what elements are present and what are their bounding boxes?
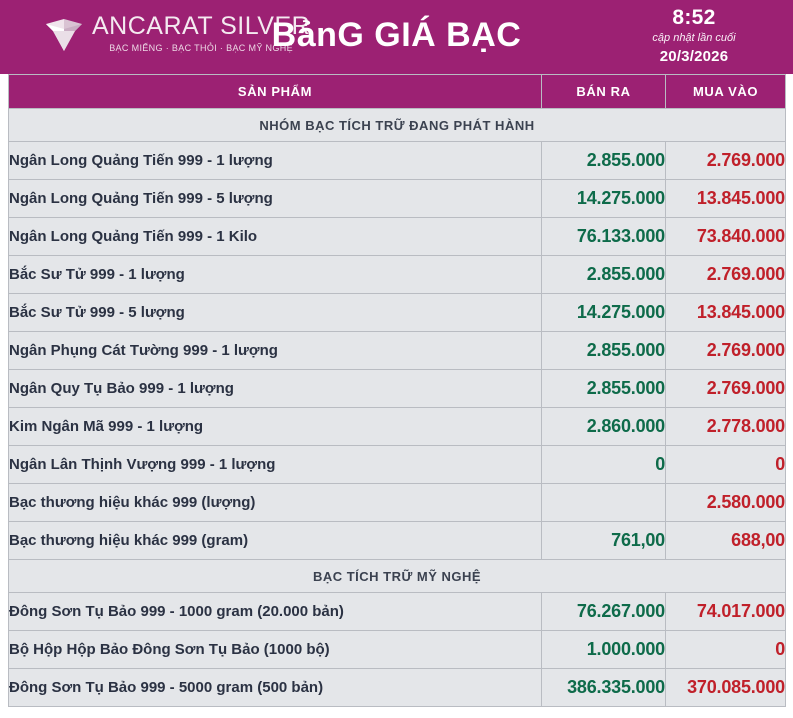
product-name: Đông Sơn Tụ Bảo 999 - 1000 gram (20.000 … (9, 593, 542, 631)
table-row: Ngân Long Quảng Tiến 999 - 5 lượng14.275… (9, 180, 786, 218)
buy-price: 0 (666, 446, 786, 484)
price-table-container: SẢN PHẨM BÁN RA MUA VÀO NHÓM BẠC TÍCH TR… (0, 74, 793, 707)
table-row: Bộ Hộp Hộp Bảo Đông Sơn Tụ Bảo (1000 bộ)… (9, 631, 786, 669)
sell-price: 14.275.000 (542, 180, 666, 218)
price-table-header: SẢN PHẨM BÁN RA MUA VÀO (9, 75, 786, 109)
buy-price: 2.580.000 (666, 484, 786, 522)
product-name: Ngân Lân Thịnh Vượng 999 - 1 lượng (9, 446, 542, 484)
table-row: Ngân Quy Tụ Bảo 999 - 1 lượng2.855.0002.… (9, 370, 786, 408)
price-table-body: NHÓM BẠC TÍCH TRỮ ĐANG PHÁT HÀNHNgân Lon… (9, 109, 786, 707)
page-header-bar: ANCARAT SILVER BẠC MIẾNG · BẠC THỎI · BẠ… (0, 0, 793, 74)
column-header-sell: BÁN RA (542, 75, 666, 109)
column-header-buy: MUA VÀO (666, 75, 786, 109)
sell-price: 761,00 (542, 522, 666, 560)
table-row: Ngân Long Quảng Tiến 999 - 1 Kilo76.133.… (9, 218, 786, 256)
buy-price: 688,00 (666, 522, 786, 560)
price-table: SẢN PHẨM BÁN RA MUA VÀO NHÓM BẠC TÍCH TR… (8, 74, 786, 707)
product-name: Ngân Long Quảng Tiến 999 - 1 lượng (9, 142, 542, 180)
buy-price: 2.778.000 (666, 408, 786, 446)
sell-price: 0 (542, 446, 666, 484)
product-name: Ngân Phụng Cát Tường 999 - 1 lượng (9, 332, 542, 370)
buy-price: 370.085.000 (666, 669, 786, 707)
sell-price: 14.275.000 (542, 294, 666, 332)
table-row: Đông Sơn Tụ Bảo 999 - 5000 gram (500 bản… (9, 669, 786, 707)
product-name: Ngân Long Quảng Tiến 999 - 1 Kilo (9, 218, 542, 256)
table-row: Bắc Sư Tử 999 - 5 lượng14.275.00013.845.… (9, 294, 786, 332)
table-group-row: NHÓM BẠC TÍCH TRỮ ĐANG PHÁT HÀNH (9, 109, 786, 142)
product-name: Bắc Sư Tử 999 - 1 lượng (9, 256, 542, 294)
table-group-row: BẠC TÍCH TRỮ MỸ NGHỆ (9, 560, 786, 593)
product-name: Bắc Sư Tử 999 - 5 lượng (9, 294, 542, 332)
product-name: Đông Sơn Tụ Bảo 999 - 5000 gram (500 bản… (9, 669, 542, 707)
product-name: Bạc thương hiệu khác 999 (gram) (9, 522, 542, 560)
column-header-product: SẢN PHẨM (9, 75, 542, 109)
buy-price: 0 (666, 631, 786, 669)
buy-price: 13.845.000 (666, 180, 786, 218)
buy-price: 73.840.000 (666, 218, 786, 256)
buy-price: 74.017.000 (666, 593, 786, 631)
product-name: Ngân Long Quảng Tiến 999 - 5 lượng (9, 180, 542, 218)
sell-price (542, 484, 666, 522)
buy-price: 2.769.000 (666, 370, 786, 408)
table-row: Ngân Lân Thịnh Vượng 999 - 1 lượng00 (9, 446, 786, 484)
sell-price: 2.860.000 (542, 408, 666, 446)
buy-price: 2.769.000 (666, 332, 786, 370)
table-row: Kim Ngân Mã 999 - 1 lượng2.860.0002.778.… (9, 408, 786, 446)
table-row: Đông Sơn Tụ Bảo 999 - 1000 gram (20.000 … (9, 593, 786, 631)
product-name: Bạc thương hiệu khác 999 (lượng) (9, 484, 542, 522)
last-updated-block: 8:52 cập nhật lần cuối 20/3/2026 (629, 6, 759, 66)
sell-price: 2.855.000 (542, 370, 666, 408)
sell-price: 1.000.000 (542, 631, 666, 669)
group-label: BẠC TÍCH TRỮ MỸ NGHỆ (9, 560, 786, 593)
table-row: Bắc Sư Tử 999 - 1 lượng2.855.0002.769.00… (9, 256, 786, 294)
table-row: Ngân Long Quảng Tiến 999 - 1 lượng2.855.… (9, 142, 786, 180)
sell-price: 2.855.000 (542, 332, 666, 370)
header-row: SẢN PHẨM BÁN RA MUA VÀO (9, 75, 786, 109)
table-row: Bạc thương hiệu khác 999 (lượng)2.580.00… (9, 484, 786, 522)
product-name: Bộ Hộp Hộp Bảo Đông Sơn Tụ Bảo (1000 bộ) (9, 631, 542, 669)
sell-price: 76.267.000 (542, 593, 666, 631)
product-name: Kim Ngân Mã 999 - 1 lượng (9, 408, 542, 446)
buy-price: 13.845.000 (666, 294, 786, 332)
table-row: Bạc thương hiệu khác 999 (gram)761,00688… (9, 522, 786, 560)
sell-price: 76.133.000 (542, 218, 666, 256)
sell-price: 2.855.000 (542, 256, 666, 294)
sell-price: 386.335.000 (542, 669, 666, 707)
buy-price: 2.769.000 (666, 256, 786, 294)
clock-caption: cập nhật lần cuối (629, 30, 759, 47)
table-row: Ngân Phụng Cát Tường 999 - 1 lượng2.855.… (9, 332, 786, 370)
buy-price: 2.769.000 (666, 142, 786, 180)
clock-date: 20/3/2026 (629, 47, 759, 67)
group-label: NHÓM BẠC TÍCH TRỮ ĐANG PHÁT HÀNH (9, 109, 786, 142)
product-name: Ngân Quy Tụ Bảo 999 - 1 lượng (9, 370, 542, 408)
sell-price: 2.855.000 (542, 142, 666, 180)
clock-time: 8:52 (629, 6, 759, 30)
